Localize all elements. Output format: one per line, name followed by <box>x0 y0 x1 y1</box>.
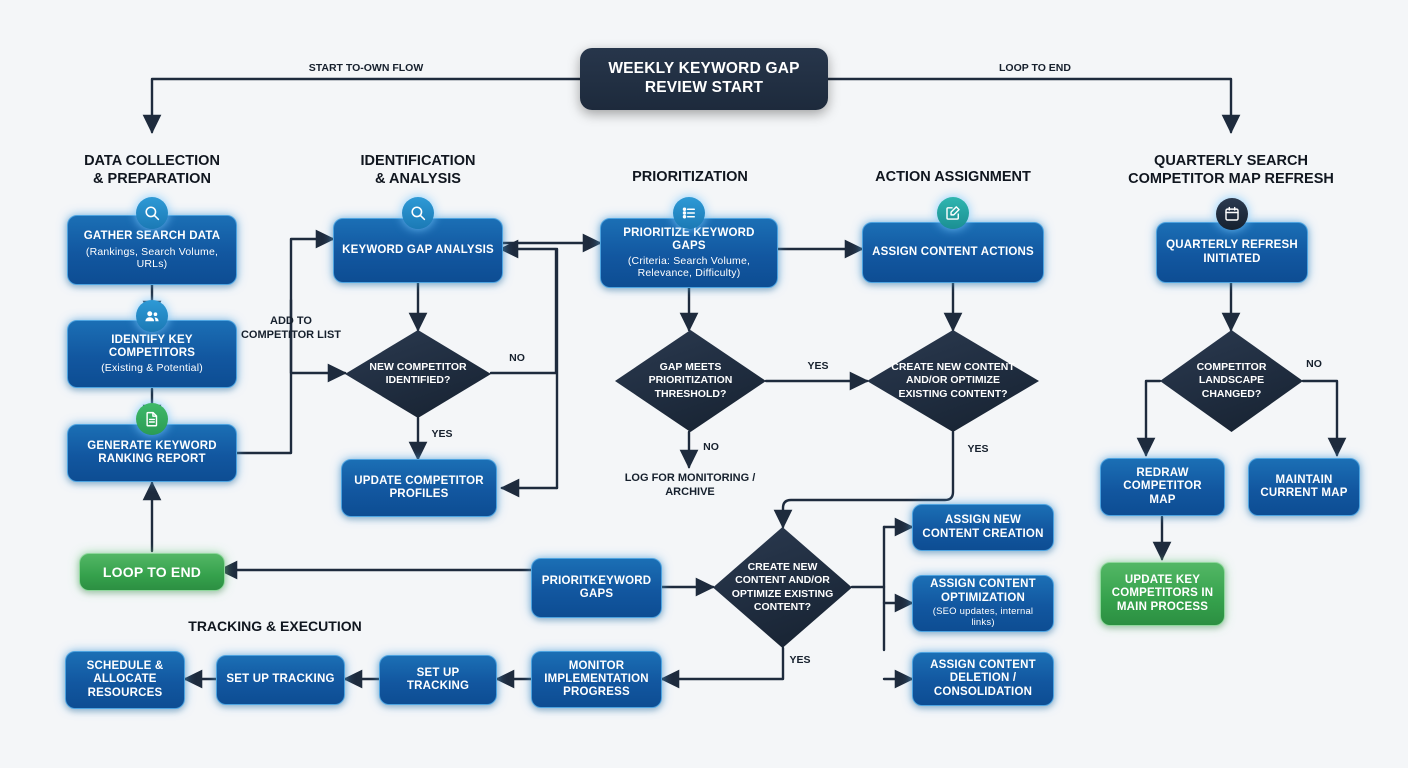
node-schedule-allocate-resources[interactable]: SCHEDULE & ALLOCATE RESOURCES <box>65 651 185 709</box>
edge-label-add-to-competitor-list: ADD TO COMPETITOR LIST <box>232 315 350 343</box>
search-icon <box>136 197 168 229</box>
edge-label-start-to-own-flow: START TO-OWN FLOW <box>286 62 446 75</box>
node-assign-content-actions[interactable]: ASSIGN CONTENT ACTIONS <box>862 222 1044 283</box>
start-node[interactable]: WEEKLY KEYWORD GAP REVIEW START <box>580 48 828 110</box>
edge-label-yes-create-top: YES <box>960 443 996 456</box>
decision-create-or-optimize-bottom[interactable]: CREATE NEW CONTENT AND/OR OPTIMIZE EXIST… <box>713 527 852 648</box>
decision-competitor-landscape-changed[interactable]: COMPETITOR LANDSCAPE CHANGED? <box>1160 330 1303 432</box>
column-header-quarterly-refresh: QUARTERLY SEARCH COMPETITOR MAP REFRESH <box>1086 152 1376 188</box>
section-label-tracking-execution: TRACKING & EXECUTION <box>170 618 380 636</box>
node-redraw-competitor-map[interactable]: REDRAW COMPETITOR MAP <box>1100 458 1225 516</box>
column-header-identification: IDENTIFICATION & ANALYSIS <box>308 152 528 188</box>
start-line2: REVIEW START <box>645 79 763 98</box>
edge-label-yes-new-competitor: YES <box>424 428 460 441</box>
document-icon <box>136 403 168 435</box>
node-prioritkeyword-gaps[interactable]: PRIORITKEYWORD GAPS <box>531 558 662 618</box>
node-assign-content-optimization[interactable]: ASSIGN CONTENT OPTIMIZATION (SEO updates… <box>912 575 1054 632</box>
edge-label-no-landscape: NO <box>1296 358 1332 371</box>
column-header-action-assignment: ACTION ASSIGNMENT <box>843 168 1063 186</box>
node-monitor-implementation-progress[interactable]: MONITOR IMPLEMENTATION PROGRESS <box>531 651 662 708</box>
search-icon <box>402 197 434 229</box>
decision-create-or-optimize-top[interactable]: CREATE NEW CONTENT AND/OR OPTIMIZE EXIST… <box>867 330 1039 432</box>
edit-icon <box>937 197 969 229</box>
calendar-icon <box>1216 198 1248 230</box>
node-set-up-tracking-2[interactable]: SET UP TRACKING <box>216 655 345 705</box>
list-icon <box>673 197 705 229</box>
users-icon <box>136 300 168 332</box>
node-update-key-competitors[interactable]: UPDATE KEY COMPETITORS IN MAIN PROCESS <box>1100 562 1225 626</box>
edge-label-no-new-competitor: NO <box>497 352 537 365</box>
column-header-prioritization: PRIORITIZATION <box>580 168 800 186</box>
edge-label-no-gap-threshold: NO <box>694 441 728 454</box>
node-maintain-current-map[interactable]: MAINTAIN CURRENT MAP <box>1248 458 1360 516</box>
node-loop-to-end[interactable]: LOOP TO END <box>79 553 225 591</box>
flowchart-canvas: WEEKLY KEYWORD GAP REVIEW START START TO… <box>0 0 1408 768</box>
node-update-competitor-profiles[interactable]: UPDATE COMPETITOR PROFILES <box>341 459 497 517</box>
node-quarterly-refresh-initiated[interactable]: QUARTERLY REFRESH INITIATED <box>1156 222 1308 283</box>
decision-gap-meets-threshold[interactable]: GAP MEETS PRIORITIZATION THRESHOLD? <box>615 330 766 432</box>
node-assign-content-deletion[interactable]: ASSIGN CONTENT DELETION / CONSOLIDATION <box>912 652 1054 706</box>
column-header-data-collection: DATA COLLECTION & PREPARATION <box>42 152 262 188</box>
start-line1: WEEKLY KEYWORD GAP <box>608 60 799 79</box>
edge-label-log-for-monitoring: LOG FOR MONITORING / ARCHIVE <box>604 472 776 500</box>
decision-new-competitor-identified[interactable]: NEW COMPETITOR IDENTIFIED? <box>345 330 491 418</box>
edge-label-yes-create-bottom: YES <box>782 654 818 667</box>
edge-label-loop-to-end-top: LOOP TO END <box>955 62 1115 75</box>
node-assign-new-content-creation[interactable]: ASSIGN NEW CONTENT CREATION <box>912 504 1054 551</box>
edge-label-yes-gap-threshold: YES <box>798 360 838 373</box>
node-set-up-tracking-1[interactable]: SET UP TRACKING <box>379 655 497 705</box>
